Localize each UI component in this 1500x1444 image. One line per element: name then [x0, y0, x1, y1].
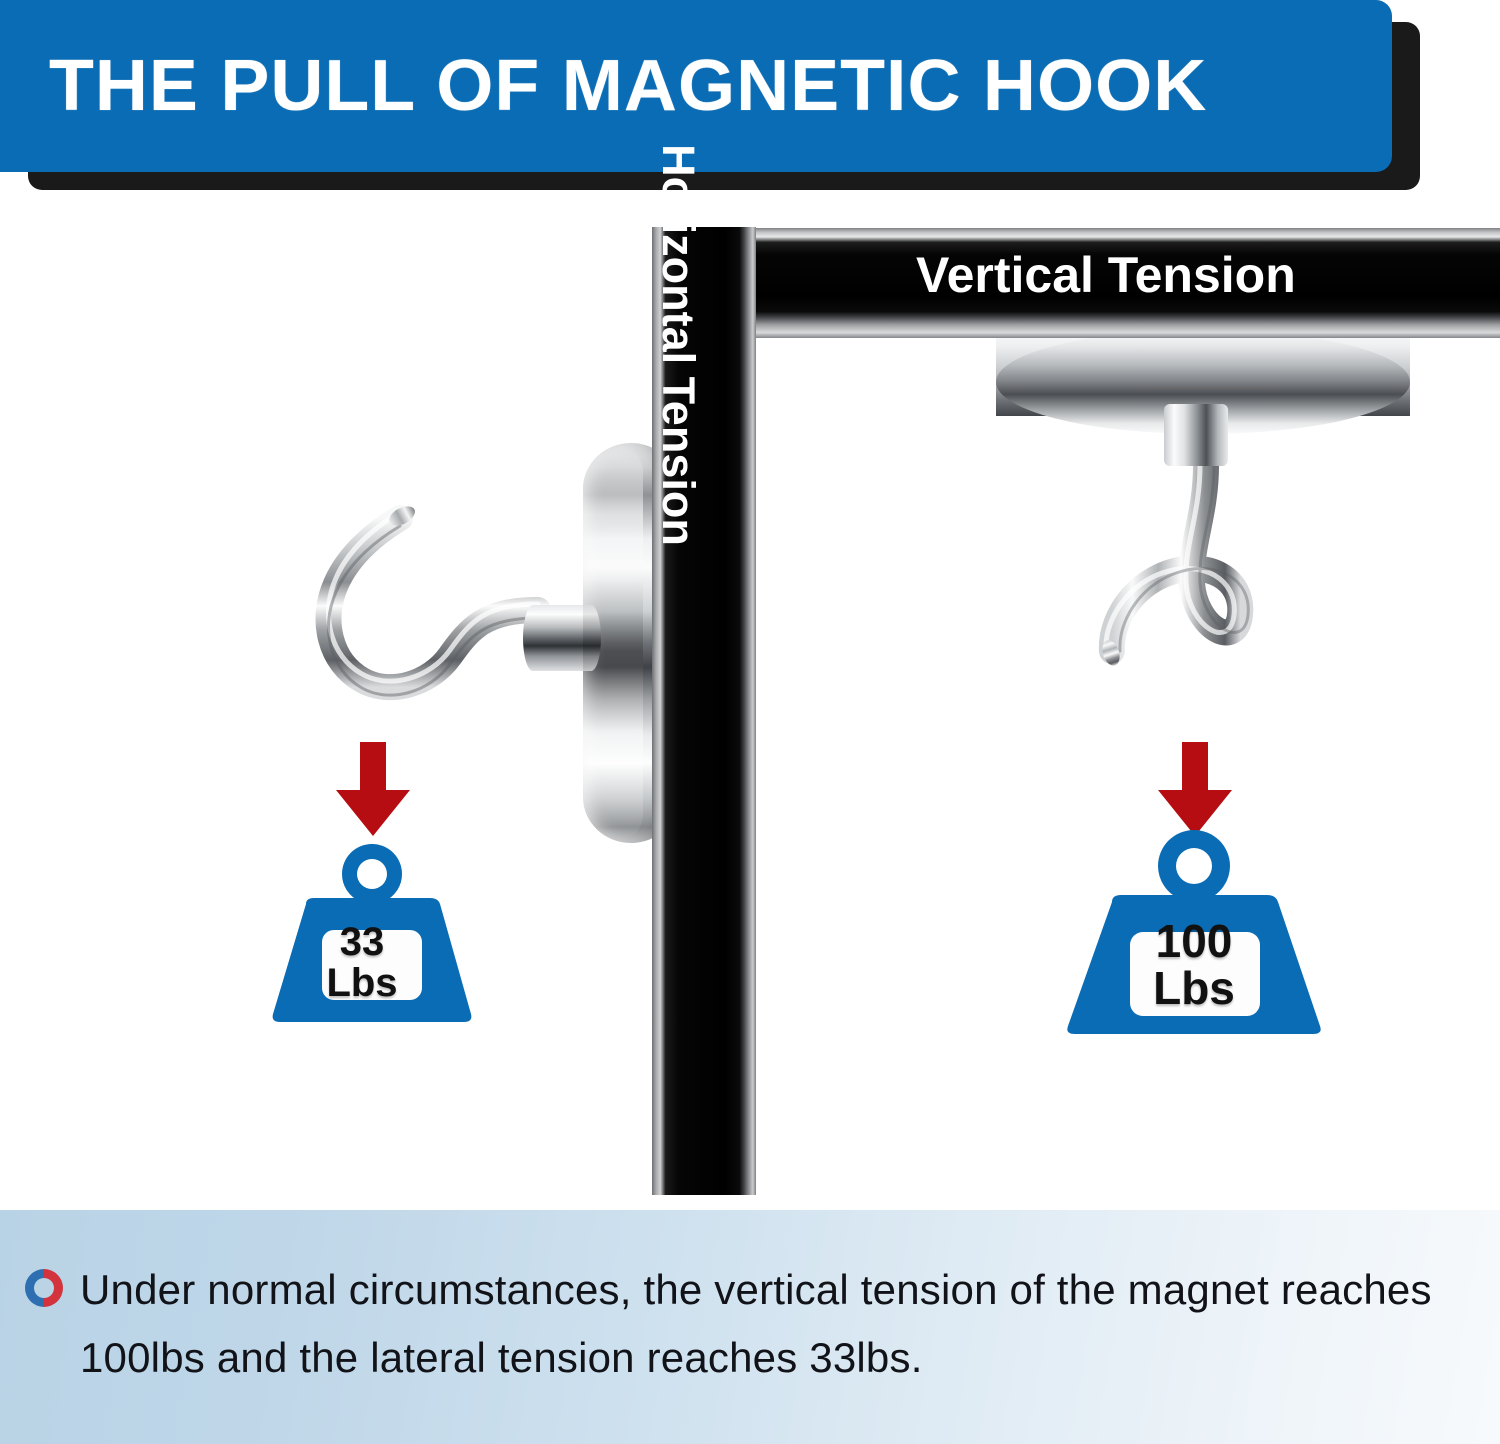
caption-bar: Under normal circumstances, the vertical…	[0, 1210, 1500, 1444]
horizontal-tension-label: Horizontal Tension	[652, 144, 704, 546]
caption-text: Under normal circumstances, the vertical…	[80, 1256, 1472, 1392]
force-arrow-down	[1152, 742, 1238, 838]
caption-row: Under normal circumstances, the vertical…	[22, 1256, 1472, 1392]
weight-value: 33	[310, 922, 414, 963]
force-arrow-down	[330, 742, 416, 838]
product-infographic: THE PULL OF MAGNETIC HOOK Horizontal Ten…	[0, 0, 1500, 1444]
vertical-steel-bar: Horizontal Tension	[652, 227, 756, 1195]
magnet-poles-ring-icon	[22, 1266, 66, 1310]
page-title: THE PULL OF MAGNETIC HOOK	[0, 45, 1207, 127]
caption-content: Under normal circumstances, the vertical…	[22, 1256, 1472, 1392]
weight-label-100lbs: 100 Lbs	[1130, 918, 1258, 1012]
vertical-tension-label: Vertical Tension	[916, 246, 1296, 304]
weight-unit: Lbs	[1130, 965, 1258, 1012]
horizontal-tension-label-wrap: Horizontal Tension	[652, 227, 756, 1195]
weight-label-33lbs: 33 Lbs	[310, 922, 414, 1004]
magnetic-hook-vertical	[1040, 455, 1370, 745]
disc-magnet-side-rim-highlight	[583, 443, 643, 843]
weight-value: 100	[1130, 918, 1258, 965]
horizontal-steel-bar: Vertical Tension	[748, 228, 1500, 338]
magnet-stud-vertical	[1164, 404, 1228, 466]
weight-unit: Lbs	[310, 963, 414, 1004]
magnetic-hook-horizontal	[270, 460, 600, 720]
